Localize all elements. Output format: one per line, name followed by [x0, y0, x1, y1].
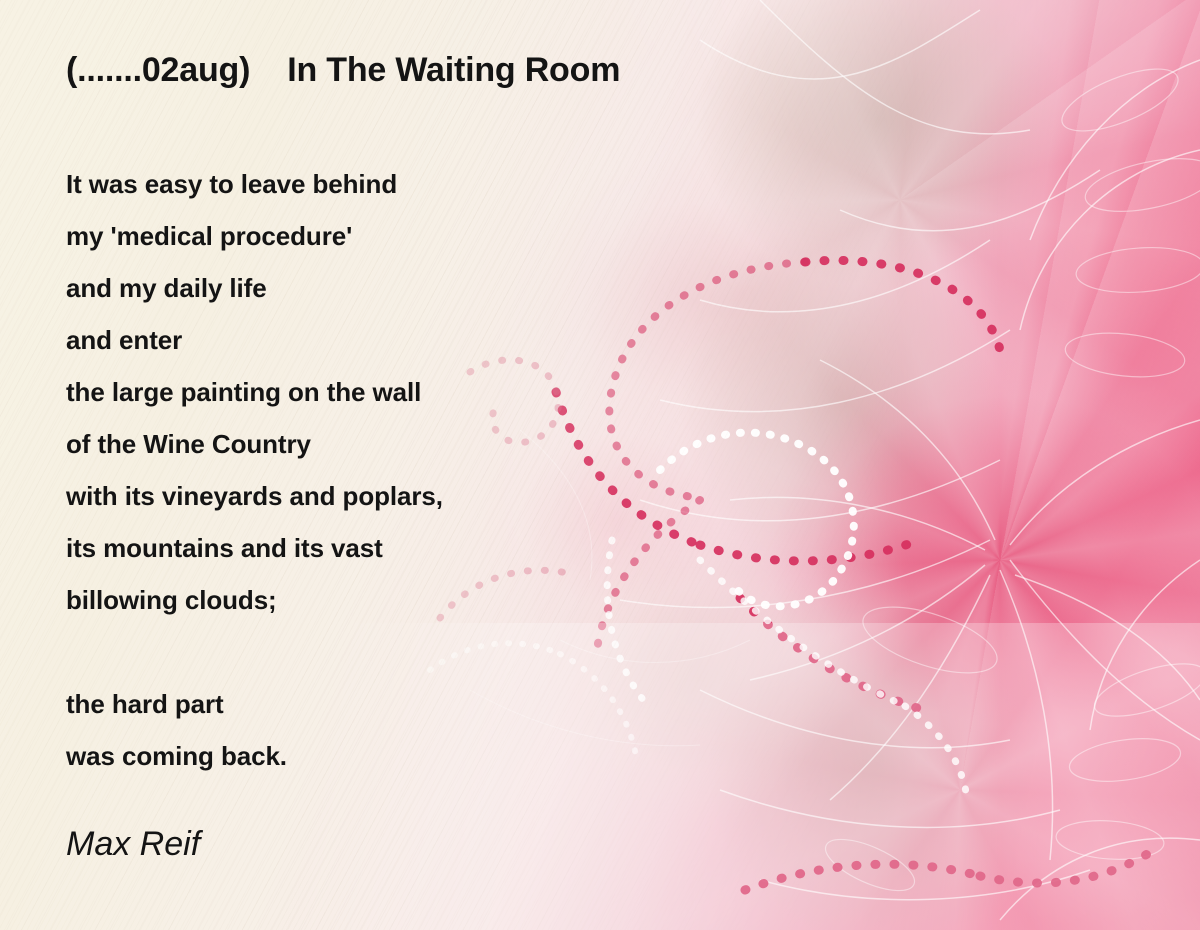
poem-stanza-break [66, 626, 443, 678]
poem-line: It was easy to leave behind [66, 158, 443, 210]
poem-line: and enter [66, 314, 443, 366]
poem-line: its mountains and its vast [66, 522, 443, 574]
poem-line: with its vineyards and poplars, [66, 470, 443, 522]
poem-line: the hard part [66, 678, 443, 730]
poem-body: It was easy to leave behind my 'medical … [66, 158, 443, 782]
poem-line: the large painting on the wall [66, 366, 443, 418]
poem-line: was coming back. [66, 730, 443, 782]
poem-line: billowing clouds; [66, 574, 443, 626]
poem-line: of the Wine Country [66, 418, 443, 470]
poem-line: and my daily life [66, 262, 443, 314]
poem-line: my 'medical procedure' [66, 210, 443, 262]
poem-card: (.......02aug) In The Waiting Room It wa… [0, 0, 1200, 930]
poem-author: Max Reif [66, 826, 200, 863]
page-title: (.......02aug) In The Waiting Room [66, 52, 620, 89]
